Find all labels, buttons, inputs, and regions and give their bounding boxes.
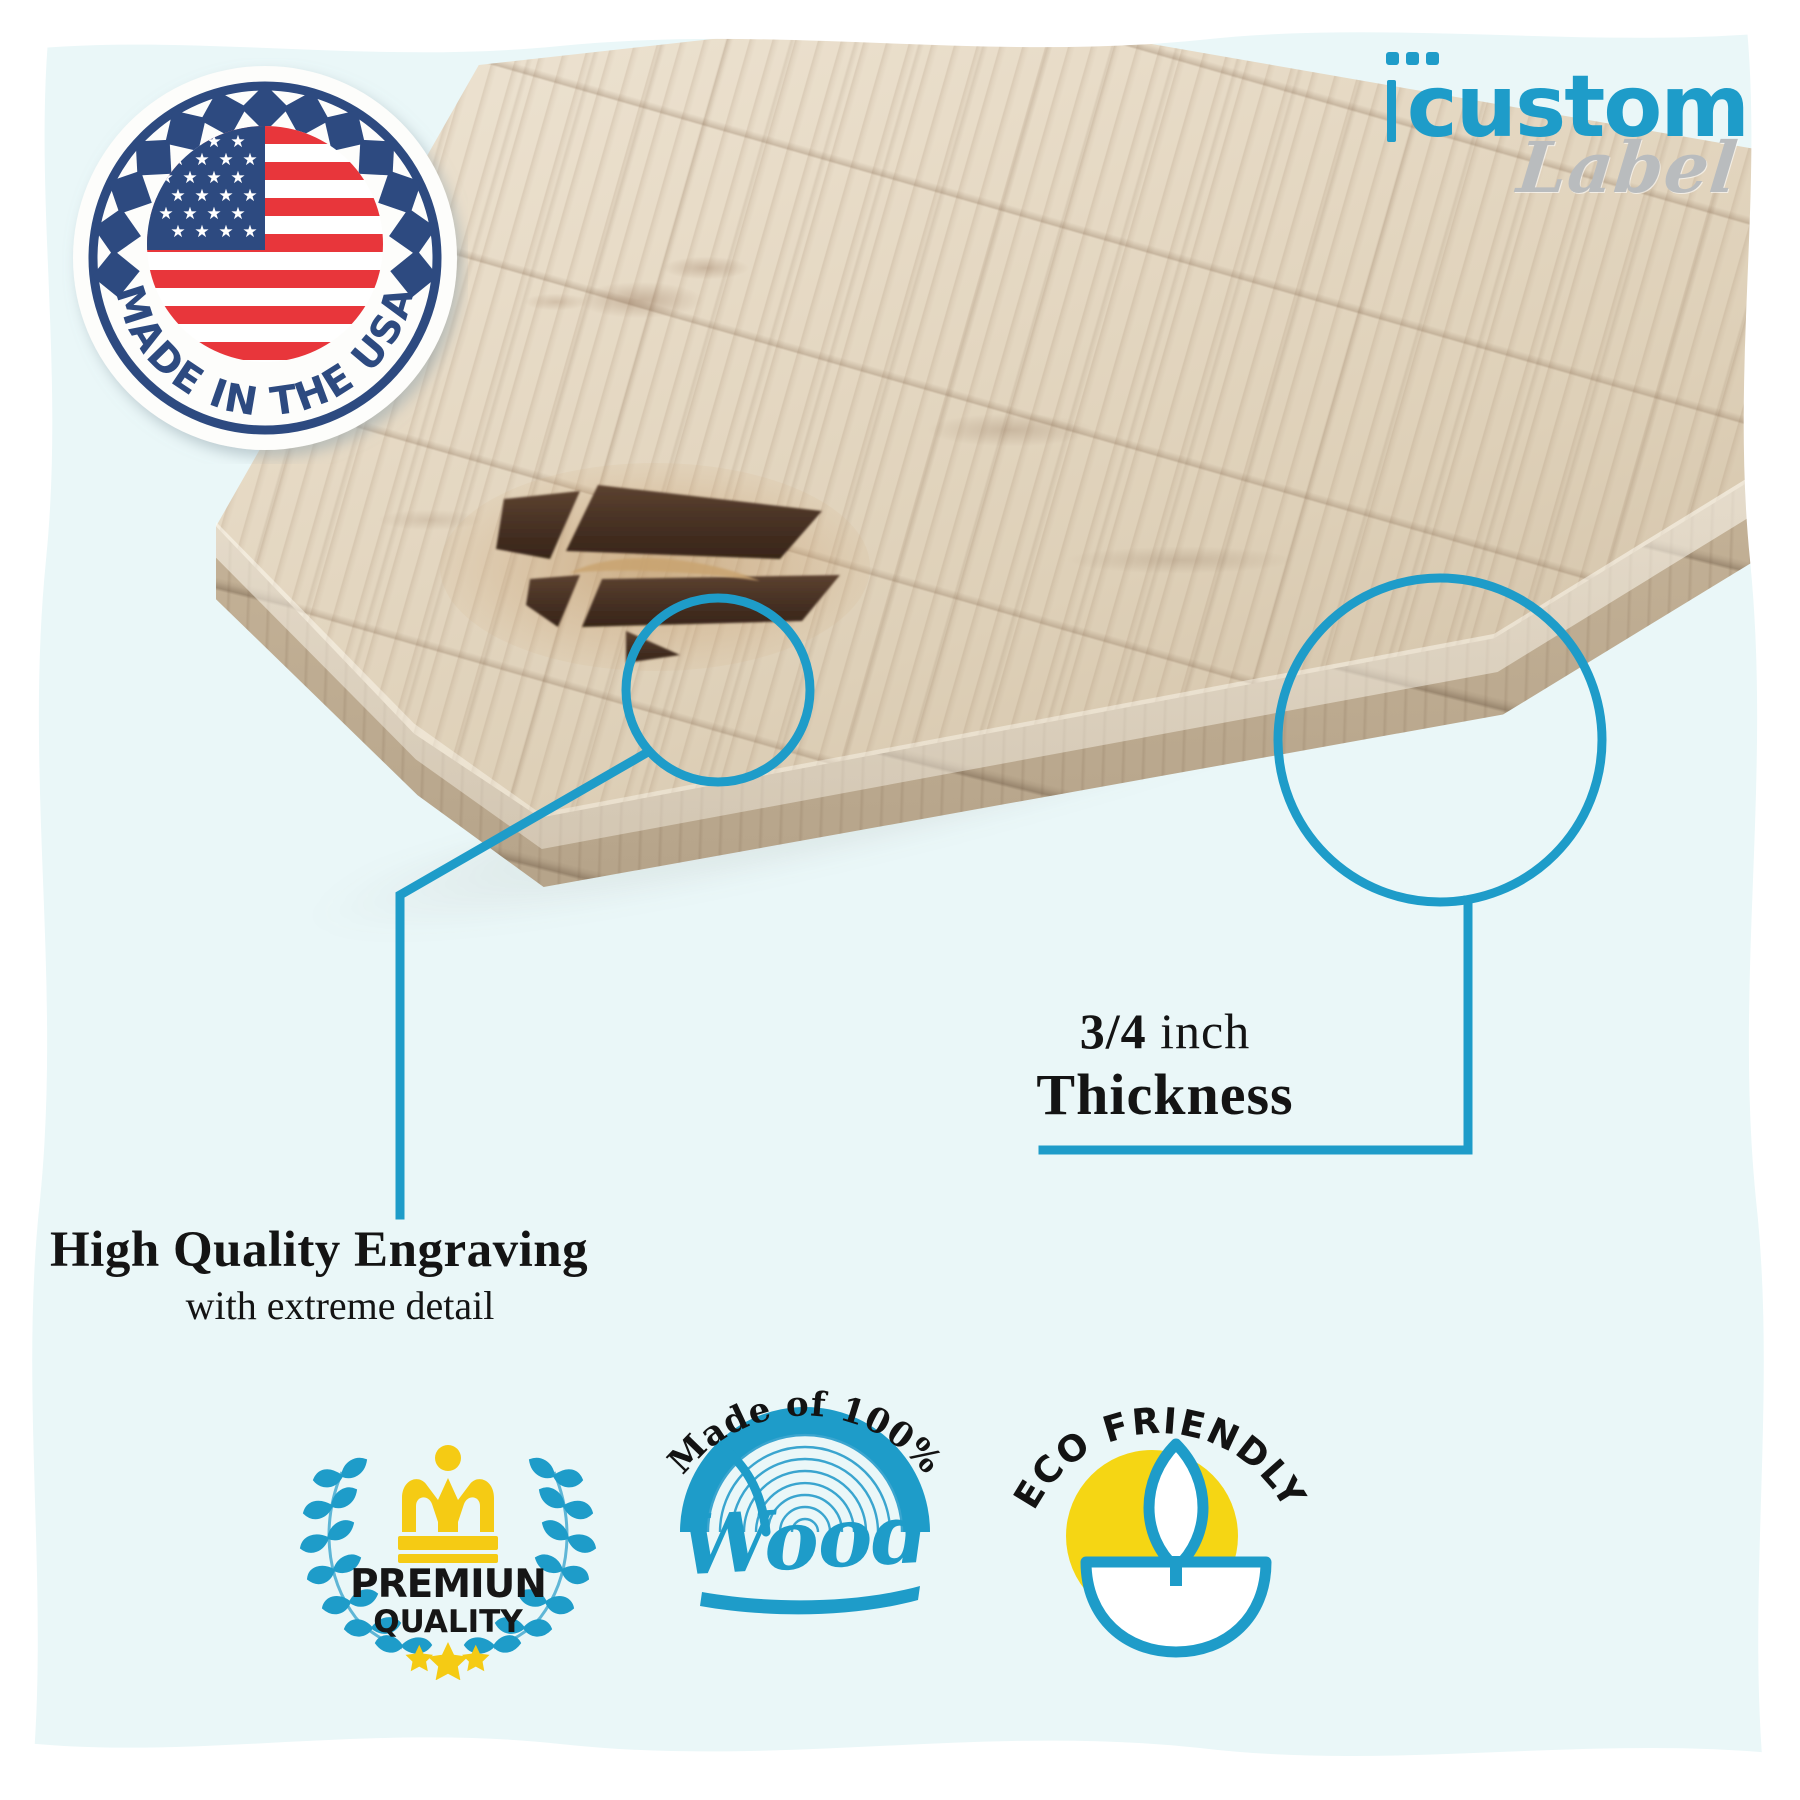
svg-text:★: ★ bbox=[218, 186, 233, 206]
product-infographic: ★★★★ ★★★★ ★★★★ ★★★★ ★★★★ ★★★★ MADE IN TH… bbox=[0, 0, 1800, 1800]
premium-line2: QUALITY bbox=[373, 1604, 523, 1640]
us-flag-icon: ★★★★ ★★★★ ★★★★ ★★★★ ★★★★ ★★★★ bbox=[147, 126, 383, 362]
svg-text:★: ★ bbox=[170, 222, 185, 242]
svg-text:★: ★ bbox=[206, 168, 221, 188]
svg-text:★: ★ bbox=[242, 222, 257, 242]
svg-text:★: ★ bbox=[230, 168, 245, 188]
svg-text:★: ★ bbox=[206, 204, 221, 224]
brush-border-bottom bbox=[0, 1710, 1800, 1800]
premium-quality-badge: PREMIUN QUALITY bbox=[298, 1380, 598, 1680]
crown-icon bbox=[398, 1445, 498, 1563]
rating-stars-icon bbox=[405, 1642, 489, 1680]
thickness-value: 3/4 bbox=[1080, 1003, 1147, 1059]
engraving-title: High Quality Engraving bbox=[50, 1220, 730, 1280]
thickness-unit: inch bbox=[1160, 1003, 1250, 1059]
brand-logo[interactable]: custom Label bbox=[1188, 64, 1748, 234]
usa-flag-circle-icon: ★★★★ ★★★★ ★★★★ ★★★★ ★★★★ ★★★★ MADE IN TH… bbox=[62, 58, 468, 464]
svg-text:★: ★ bbox=[194, 150, 209, 170]
thickness-value-line: 3/4 inch bbox=[905, 1000, 1425, 1062]
thickness-callout: 3/4 inch Thickness bbox=[905, 1000, 1425, 1128]
svg-text:★: ★ bbox=[194, 222, 209, 242]
thickness-label: Thickness bbox=[905, 1062, 1425, 1128]
svg-text:★: ★ bbox=[242, 186, 257, 206]
i-bar-with-dots-icon bbox=[1387, 80, 1396, 142]
svg-text:★: ★ bbox=[218, 222, 233, 242]
brand-name-script: Label bbox=[1514, 126, 1742, 209]
svg-text:★: ★ bbox=[230, 132, 245, 152]
svg-text:★: ★ bbox=[182, 204, 197, 224]
svg-text:★: ★ bbox=[218, 150, 233, 170]
svg-text:★: ★ bbox=[194, 186, 209, 206]
eco-friendly-badge: ECO FRIENDLY bbox=[1000, 1340, 1320, 1660]
engraved-brand-mark-icon bbox=[430, 455, 890, 685]
engraving-subtitle: with extreme detail bbox=[50, 1280, 630, 1332]
svg-text:Wood: Wood bbox=[677, 1486, 930, 1595]
svg-text:★: ★ bbox=[170, 186, 185, 206]
engraving-callout: High Quality Engraving with extreme deta… bbox=[50, 1220, 730, 1332]
made-of-wood-badge: Made of 100% Wood bbox=[640, 1320, 970, 1620]
premium-line1: PREMIUN bbox=[350, 1562, 546, 1607]
svg-text:★: ★ bbox=[242, 150, 257, 170]
svg-text:★: ★ bbox=[230, 204, 245, 224]
wood-script-label: Wood bbox=[677, 1486, 930, 1615]
svg-text:★: ★ bbox=[158, 204, 173, 224]
svg-text:★: ★ bbox=[182, 168, 197, 188]
